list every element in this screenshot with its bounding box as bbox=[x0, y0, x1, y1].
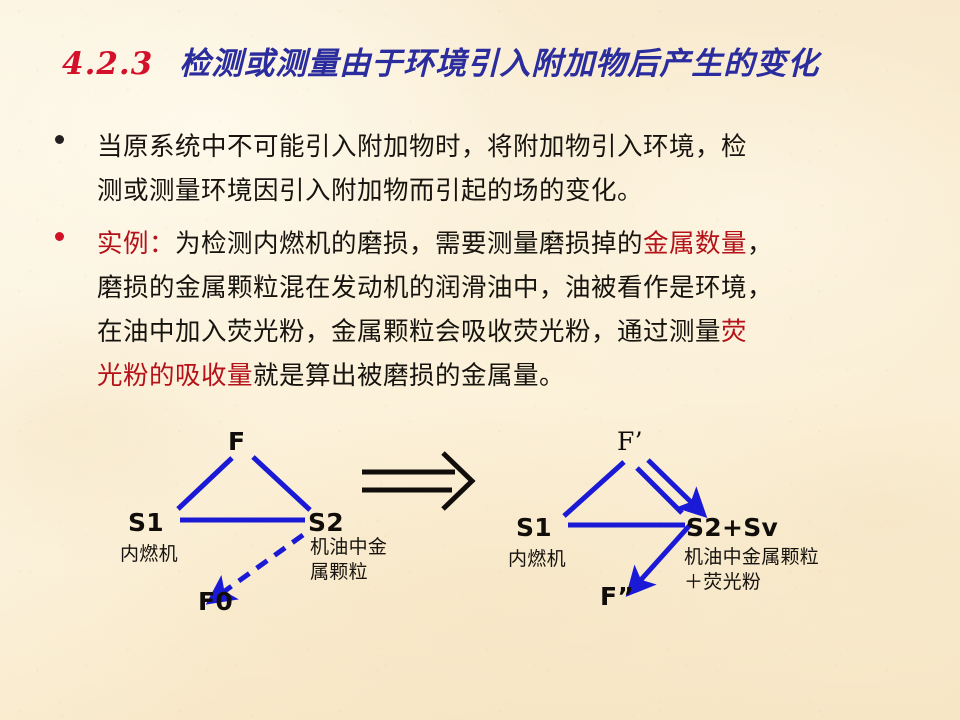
paragraph-2-text: 实例：为检测内燃机的磨损，需要测量磨损掉的金属数量， 磨损的金属颗粒混在发动机的… bbox=[97, 222, 935, 398]
text-run: 在油中加入荧光粉，金属颗粒会吸收荧光粉，通过测量 bbox=[97, 317, 721, 347]
text-run: 测或测量环境因引入附加物而引起的场的变化。 bbox=[97, 176, 643, 206]
bullet-marker-icon bbox=[55, 135, 64, 144]
slide-title: 4.2.3检测或测量由于环境引入附加物后产生的变化 bbox=[62, 38, 942, 83]
text-run-highlight: 实例： bbox=[97, 229, 175, 259]
title-heading-text: 检测或测量由于环境引入附加物后产生的变化 bbox=[179, 46, 819, 82]
su-field-diagram: F S1 内燃机 S2 机油中金 属颗粒 F0 F’ S1 内燃机 S2+Sv … bbox=[0, 415, 960, 645]
paragraph-2-line-2: 磨损的金属颗粒混在发动机的润滑油中，油被看作是环境， bbox=[97, 266, 935, 310]
left-edge-field-to-s2 bbox=[253, 457, 310, 510]
paragraph-1-line-2: 测或测量环境因引入附加物而引起的场的变化。 bbox=[97, 169, 935, 213]
left-s2-label: S2 bbox=[308, 508, 344, 537]
right-edge-field-to-s1 bbox=[564, 462, 624, 516]
right-s1-label: S1 bbox=[516, 513, 552, 542]
bullet-marker-icon bbox=[55, 232, 64, 241]
paragraph-2-line-3: 在油中加入荧光粉，金属颗粒会吸收荧光粉，通过测量荧 bbox=[97, 310, 935, 354]
left-s1-caption: 内燃机 bbox=[120, 542, 178, 567]
text-run-highlight: 荧 bbox=[721, 317, 747, 347]
text-run: 为检测内燃机的磨损，需要测量磨损掉的 bbox=[175, 229, 643, 259]
left-f0-label: F0 bbox=[198, 587, 233, 616]
right-field-label: F’ bbox=[617, 427, 643, 456]
text-run-highlight: 光粉的吸收量 bbox=[97, 361, 253, 391]
right-s2-caption: 机油中金属颗粒 ＋荧光粉 bbox=[684, 545, 819, 595]
left-s2-caption: 机油中金 属颗粒 bbox=[310, 535, 387, 585]
bullet-paragraph-2: 实例：为检测内燃机的磨损，需要测量磨损掉的金属数量， 磨损的金属颗粒混在发动机的… bbox=[55, 222, 935, 398]
right-edge-s2-to-f2-arrow bbox=[639, 525, 690, 582]
bullet-paragraph-1: 当原系统中不可能引入附加物时，将附加物引入环境，检 测或测量环境因引入附加物而引… bbox=[55, 125, 935, 213]
implies-arrow-icon bbox=[362, 453, 472, 509]
paragraph-2-line-1: 实例：为检测内燃机的磨损，需要测量磨损掉的金属数量， bbox=[97, 222, 935, 266]
paragraph-1-text: 当原系统中不可能引入附加物时，将附加物引入环境，检 测或测量环境因引入附加物而引… bbox=[97, 125, 935, 213]
text-run: 磨损的金属颗粒混在发动机的润滑油中，油被看作是环境， bbox=[97, 273, 773, 303]
left-field-label: F bbox=[228, 427, 245, 456]
right-edge-field-to-s2-outer-arrow bbox=[648, 460, 693, 504]
right-s1-caption: 内燃机 bbox=[508, 547, 566, 572]
text-run: 当原系统中不可能引入附加物时，将附加物引入环境，检 bbox=[97, 132, 747, 162]
right-f2-label: F” bbox=[600, 582, 634, 611]
text-run-highlight: 金属数量 bbox=[643, 229, 747, 259]
paragraph-1-line-1: 当原系统中不可能引入附加物时，将附加物引入环境，检 bbox=[97, 125, 935, 169]
paragraph-2-line-4: 光粉的吸收量就是算出被磨损的金属量。 bbox=[97, 354, 935, 398]
right-s2-label: S2+Sv bbox=[686, 513, 778, 542]
left-s1-label: S1 bbox=[128, 508, 164, 537]
left-edge-field-to-s1 bbox=[178, 458, 232, 509]
text-run: 就是算出被磨损的金属量。 bbox=[253, 361, 565, 391]
left-edge-s2-to-f0-dashed bbox=[222, 535, 303, 593]
right-edge-field-to-s2-inner-line bbox=[637, 468, 682, 513]
text-run: ， bbox=[747, 229, 773, 259]
title-section-number: 4.2.3 bbox=[62, 46, 153, 82]
slide-canvas: 4.2.3检测或测量由于环境引入附加物后产生的变化 当原系统中不可能引入附加物时… bbox=[0, 0, 960, 720]
